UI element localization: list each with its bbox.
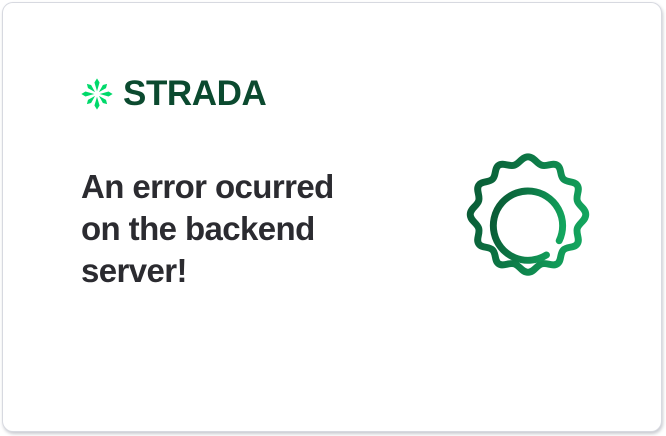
page-root: STRADA An error ocurred on the backend s…: [0, 0, 666, 436]
error-card: STRADA An error ocurred on the backend s…: [2, 2, 662, 432]
gear-cog-icon: [451, 144, 605, 302]
strada-asterisk-icon: [80, 77, 114, 111]
brand-lockup: STRADA: [80, 74, 266, 114]
error-headline: An error ocurred on the backend server!: [81, 166, 371, 292]
brand-wordmark: STRADA: [123, 76, 266, 111]
